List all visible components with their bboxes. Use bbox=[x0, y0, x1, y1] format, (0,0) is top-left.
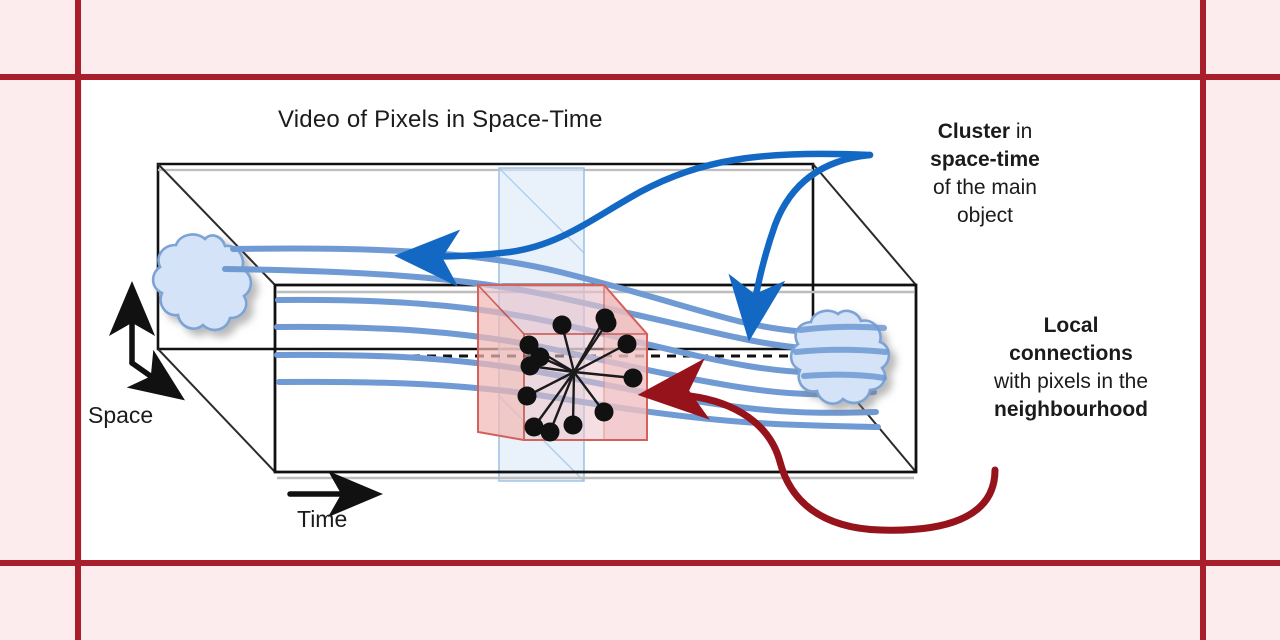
local-line-1: Local bbox=[940, 312, 1202, 340]
local-line-4: neighbourhood bbox=[940, 396, 1202, 424]
cluster-annotation-label: Cluster in space-time of the main object bbox=[880, 118, 1090, 230]
cluster-line-2: space-time bbox=[880, 146, 1090, 174]
space-axis-label: Space bbox=[88, 402, 153, 429]
cluster-line-4: object bbox=[880, 202, 1090, 230]
local-connections-annotation-label: Local connections with pixels in the nei… bbox=[940, 312, 1202, 424]
cluster-line-1: Cluster in bbox=[880, 118, 1090, 146]
local-line-2: connections bbox=[940, 340, 1202, 368]
local-line-3: with pixels in the bbox=[940, 368, 1202, 396]
cluster-line-1-bold: Cluster bbox=[938, 120, 1010, 143]
figure-stage: Video of Pixels in Space-Time Cluster in… bbox=[0, 0, 1280, 640]
neighbourhood-cube bbox=[478, 285, 647, 440]
time-axis-label: Time bbox=[297, 506, 347, 533]
cluster-line-1-rest: in bbox=[1010, 120, 1032, 143]
cluster-line-3: of the main bbox=[880, 174, 1090, 202]
page-title: Video of Pixels in Space-Time bbox=[278, 106, 603, 134]
